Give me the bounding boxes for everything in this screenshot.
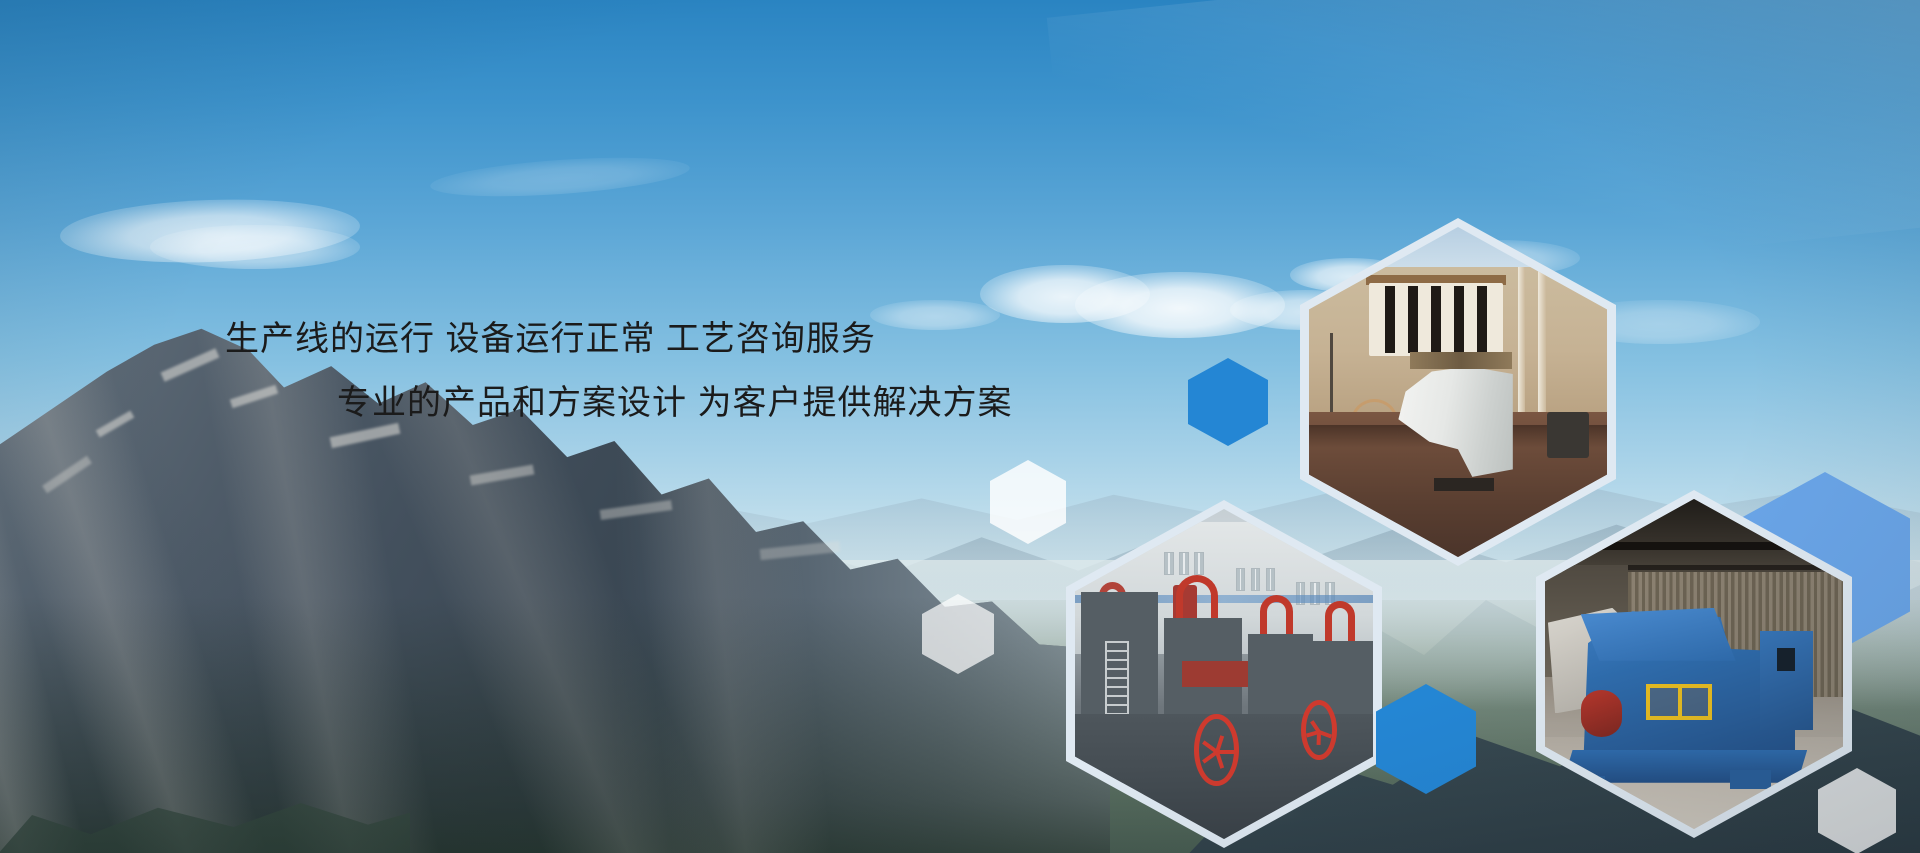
crusher-base: [1434, 478, 1494, 491]
red-panel: [1182, 661, 1248, 687]
wall-column: [1538, 267, 1545, 419]
red-pipe: [1325, 601, 1355, 641]
factory-window: [1179, 552, 1189, 575]
barred-window: [1369, 283, 1503, 356]
shredder-drive-housing: [1760, 631, 1814, 730]
factory-window: [1251, 568, 1261, 591]
yellow-guard-rail: [1646, 684, 1712, 720]
red-pipe: [1260, 595, 1293, 638]
shredder-hopper: [1581, 608, 1736, 661]
headline-line-1: 生产线的运行 设备运行正常 工艺咨询服务: [225, 322, 1045, 356]
factory-window: [1164, 552, 1174, 575]
red-handwheel: [1301, 700, 1337, 759]
blue-shredder-machine-photo: [1545, 499, 1843, 829]
hero-banner: 生产线的运行 设备运行正常 工艺咨询服务 专业的产品和方案设计 为客户提供解决方…: [0, 0, 1920, 853]
factory-window: [1266, 568, 1276, 591]
housing-window: [1777, 648, 1795, 671]
grey-press-line-photo: [1075, 509, 1373, 839]
oil-drum: [1547, 412, 1589, 458]
motor-assembly: [1581, 690, 1623, 736]
hex-photo-top-image: [1309, 227, 1607, 557]
hex-photo-left-image: [1075, 509, 1373, 839]
crusher-flange: [1410, 352, 1511, 369]
factory-window: [1194, 552, 1204, 575]
factory-window: [1236, 568, 1246, 591]
red-handwheel: [1194, 714, 1239, 787]
headline-line-2: 专业的产品和方案设计 为客户提供解决方案: [337, 386, 1045, 420]
white-crusher-machine-photo: [1309, 227, 1607, 557]
wall-column: [1518, 267, 1525, 419]
skid-foot: [1730, 770, 1772, 790]
utility-pole: [1330, 333, 1334, 419]
banner-headline: 生产线的运行 设备运行正常 工艺咨询服务 专业的产品和方案设计 为客户提供解决方…: [225, 322, 1045, 420]
hex-photo-right-image: [1545, 499, 1843, 829]
